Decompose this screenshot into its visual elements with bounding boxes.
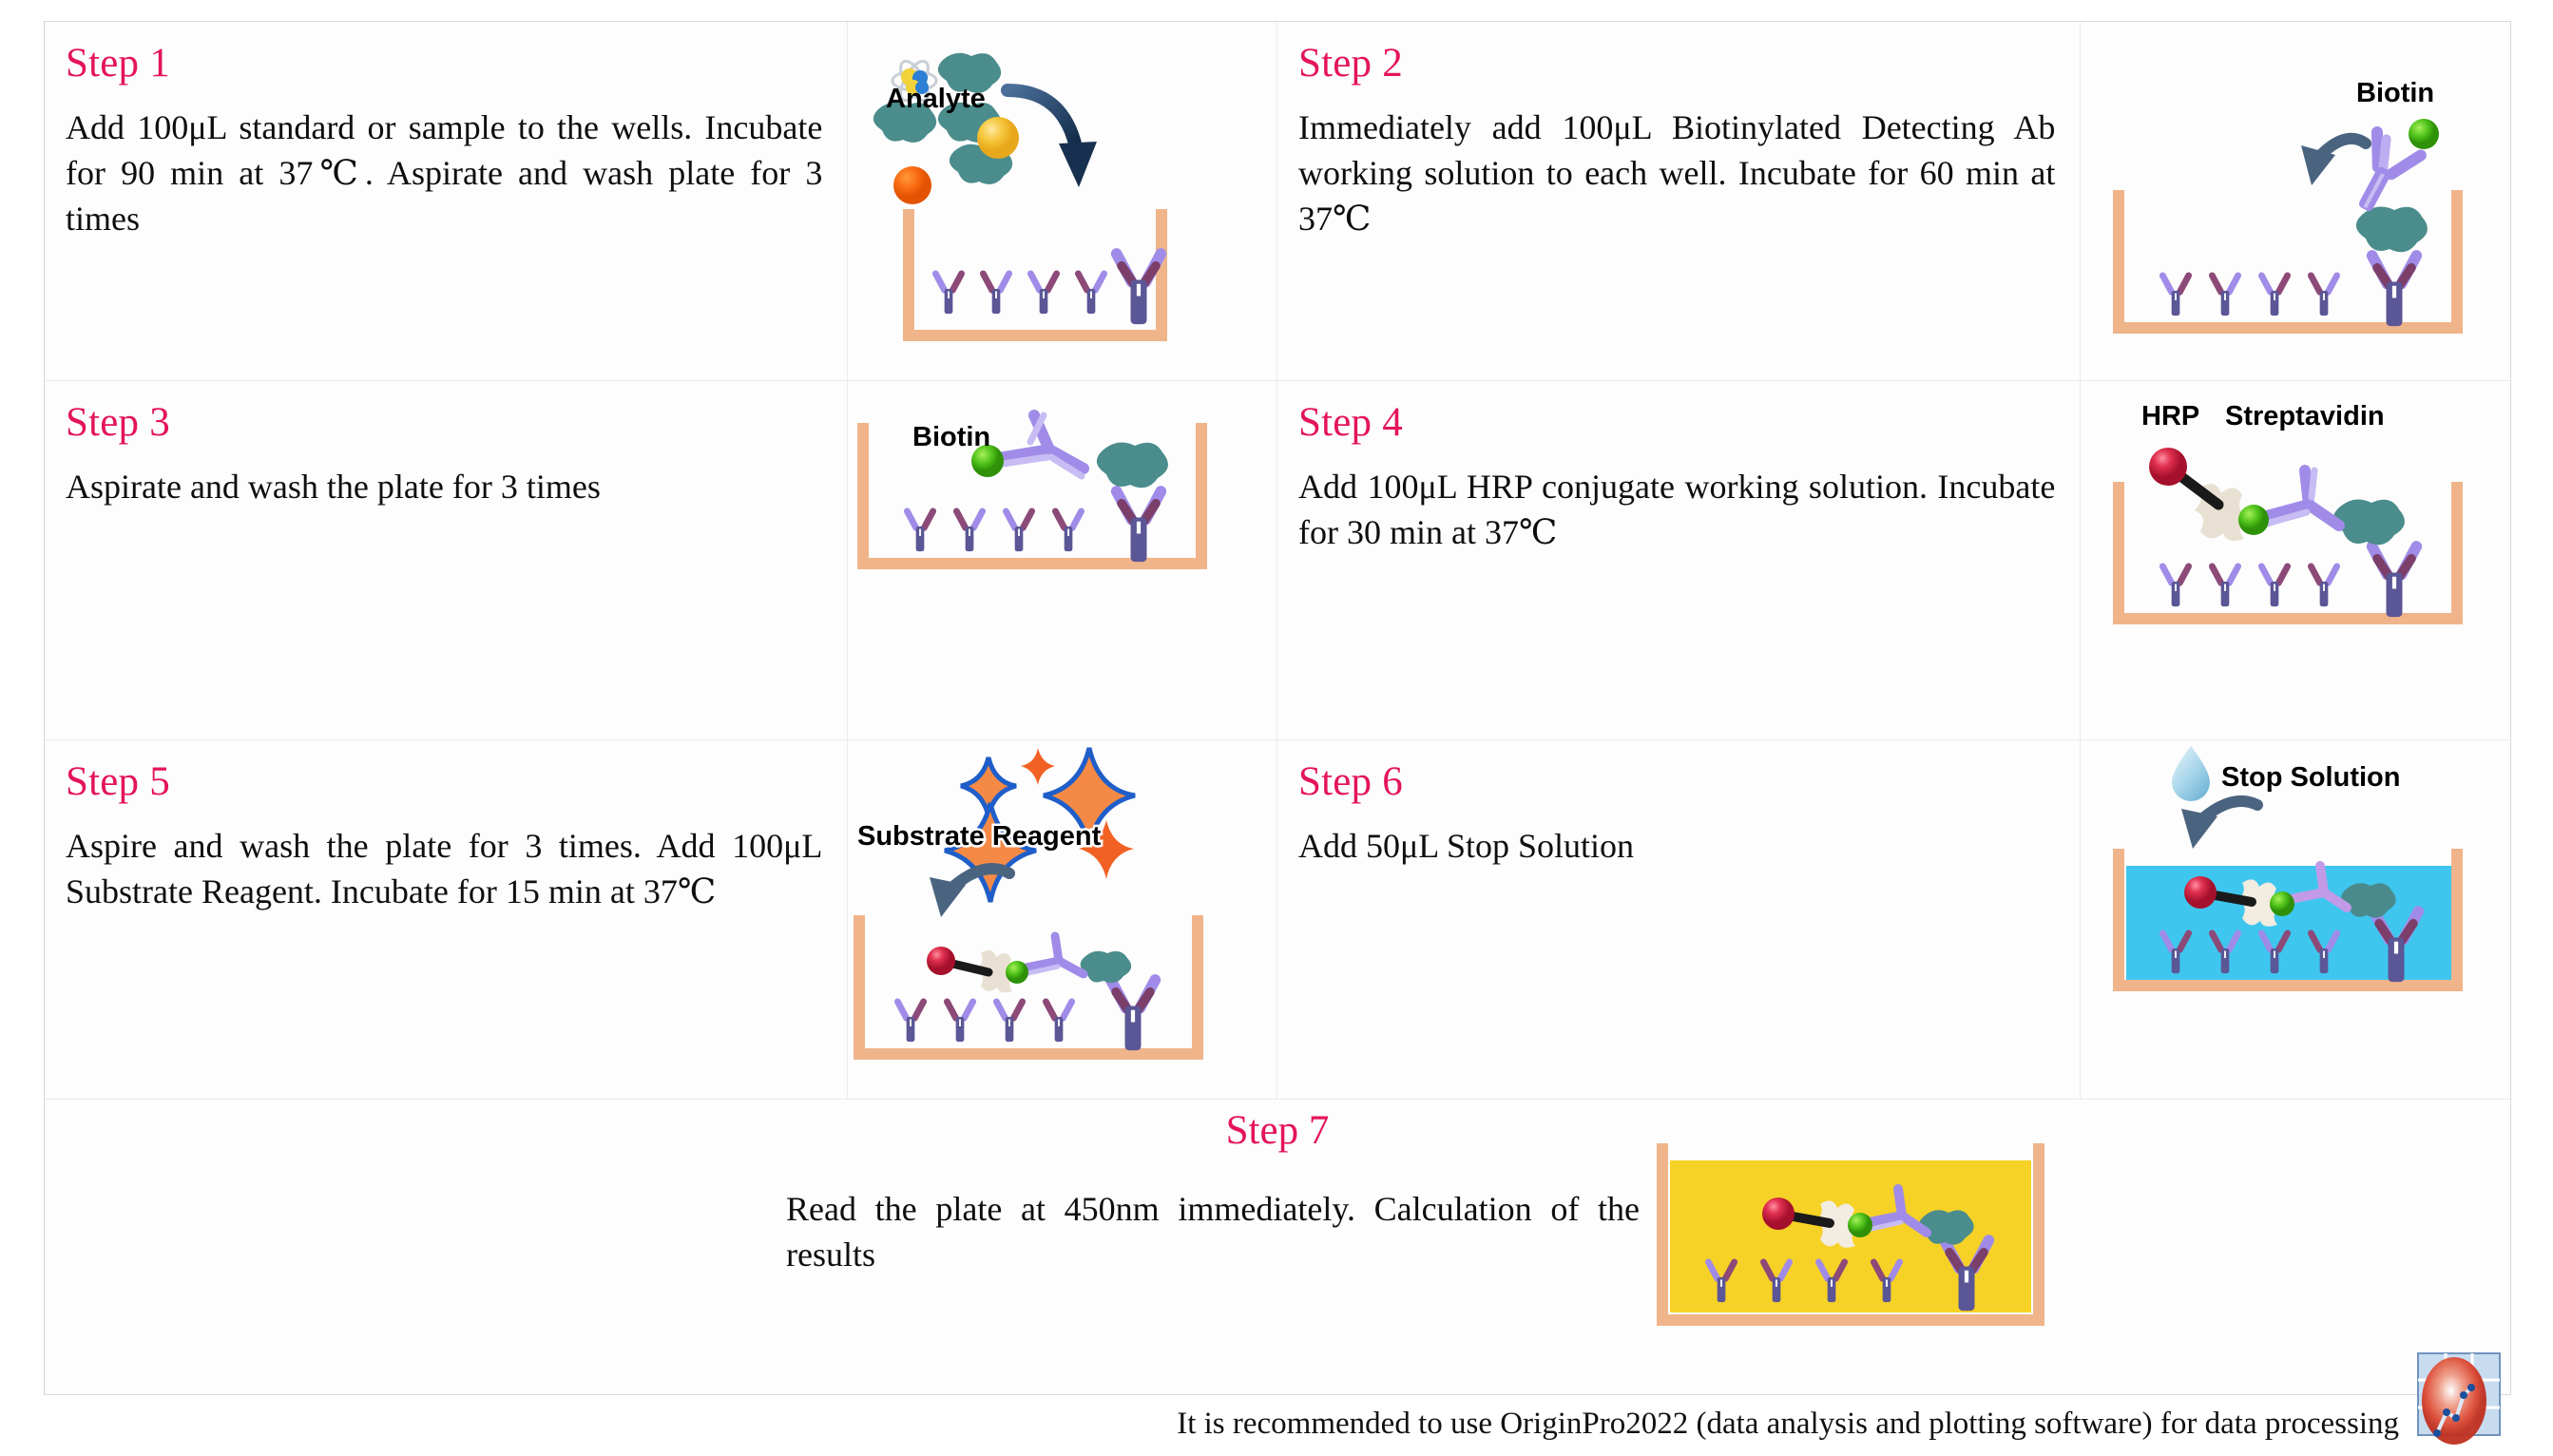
step-3-illustration-cell: Biotin: [848, 381, 1277, 739]
hrp-label: HRP: [2141, 401, 2199, 431]
coated-antibodies: [898, 980, 1156, 1050]
biotin-label: Biotin: [2356, 78, 2434, 108]
biotin-label: Biotin: [912, 422, 990, 452]
hrp-molecule: [1762, 1197, 1795, 1230]
table-row: Step 5 Aspire and wash the plate for 3 t…: [45, 740, 2510, 1100]
step-1-text-cell: Step 1 Add 100μL standard or sample to t…: [45, 22, 848, 380]
step-4-illustration-cell: HRP Streptavidin: [2081, 381, 2510, 739]
substrate-reagent-label: Substrate Reagent: [857, 821, 1102, 852]
step-1-body: Add 100μL standard or sample to the well…: [66, 105, 822, 242]
coated-antibodies: [908, 491, 1161, 562]
step-5-body: Aspire and wash the plate for 3 times. A…: [66, 824, 822, 915]
pour-arrow-icon: [1008, 90, 1097, 187]
step-6-text-cell: Step 6 Add 50μL Stop Solution: [1277, 740, 2081, 1099]
step-2-text-cell: Step 2 Immediately add 100μL Biotinylate…: [1277, 22, 2081, 380]
biotinylated-antibody-addition-illustration: Biotin: [2081, 22, 2510, 380]
bound-analyte: [1081, 951, 1132, 983]
step-7-title: Step 7: [45, 1107, 2510, 1154]
hrp-streptavidin-illustration: HRP Streptavidin: [2081, 381, 2510, 739]
bound-detecting-antibody: [992, 415, 1084, 476]
bound-analyte: [2356, 206, 2428, 252]
analyte-molecules: [873, 53, 1019, 204]
protocol-sheet: Step 1 Add 100μL standard or sample to t…: [0, 0, 2553, 1456]
step-2-body: Immediately add 100μL Biotinylated Detec…: [1298, 105, 2055, 242]
microplate-well: [2119, 854, 2457, 986]
step-6-body: Add 50μL Stop Solution: [1298, 824, 2055, 870]
footer-note: It is recommended to use OriginPro2022 (…: [1177, 1407, 2399, 1442]
biotin-molecule: [1848, 1213, 1872, 1237]
add-arrow-icon: [2301, 139, 2366, 185]
coated-antibodies: [2163, 256, 2417, 326]
biotin-bound-illustration: Biotin: [848, 381, 1277, 739]
step-6-title: Step 6: [1298, 761, 2055, 803]
hrp-molecule: [2149, 448, 2187, 486]
step-5-text-cell: Step 5 Aspire and wash the plate for 3 t…: [45, 740, 848, 1099]
table-row: Step 3 Aspirate and wash the plate for 3…: [45, 381, 2510, 740]
step-1-title: Step 1: [66, 43, 822, 85]
hrp-molecule: [2184, 876, 2217, 909]
step-4-title: Step 4: [1298, 402, 2055, 444]
streptavidin-label: Streptavidin: [2225, 401, 2385, 431]
bound-detecting-antibody: [1021, 936, 1084, 974]
analyte-addition-illustration: Analyte: [848, 22, 1277, 380]
step-1-illustration-cell: Analyte: [848, 22, 1277, 380]
step-3-title: Step 3: [66, 402, 822, 444]
hrp-molecule: [927, 947, 955, 975]
step-2-illustration-cell: Biotin: [2081, 22, 2510, 380]
step-5-title: Step 5: [66, 761, 822, 803]
step-7-cell: Step 7 Read the plate at 450nm immediate…: [45, 1100, 2510, 1396]
biotin-molecule: [2238, 505, 2269, 535]
bound-detecting-antibody: [2259, 470, 2339, 526]
step-3-text-cell: Step 3 Aspirate and wash the plate for 3…: [45, 381, 848, 739]
water-drop-icon: [2172, 746, 2210, 801]
biotin-molecule: [1006, 961, 1028, 984]
step-4-body: Add 100μL HRP conjugate working solution…: [1298, 465, 2055, 556]
biotin-molecule: [2409, 119, 2439, 149]
substrate-reagent-illustration: Substrate Reagent: [848, 740, 1277, 1099]
steps-table: Step 1 Add 100μL standard or sample to t…: [44, 21, 2511, 1395]
footer: It is recommended to use OriginPro2022 (…: [44, 1405, 2511, 1450]
table-row: Step 7 Read the plate at 450nm immediate…: [45, 1100, 2510, 1396]
step-5-illustration-cell: Substrate Reagent: [848, 740, 1277, 1099]
biotin-molecule: [2270, 891, 2294, 916]
bound-analyte: [2333, 499, 2405, 545]
step-7-body: Read the plate at 450nm immediately. Cal…: [786, 1187, 1640, 1278]
bound-analyte: [1097, 442, 1168, 488]
stop-solution-label: Stop Solution: [2221, 762, 2400, 793]
analyte-label: Analyte: [886, 84, 986, 114]
originpro-logo: [2405, 1350, 2504, 1448]
step-2-title: Step 2: [1298, 43, 2055, 85]
stop-solution-illustration: Stop Solution: [2081, 740, 2510, 1099]
table-row: Step 1 Add 100μL standard or sample to t…: [45, 22, 2510, 381]
step-3-body: Aspirate and wash the plate for 3 times: [66, 465, 822, 510]
step-6-illustration-cell: Stop Solution: [2081, 740, 2510, 1099]
add-arrow-icon: [2181, 801, 2257, 849]
step-4-text-cell: Step 4 Add 100μL HRP conjugate working s…: [1277, 381, 2081, 739]
plate-read-illustration: [1653, 1143, 2062, 1343]
coated-antibodies: [2163, 546, 2417, 617]
coated-antibodies: [936, 254, 1161, 324]
